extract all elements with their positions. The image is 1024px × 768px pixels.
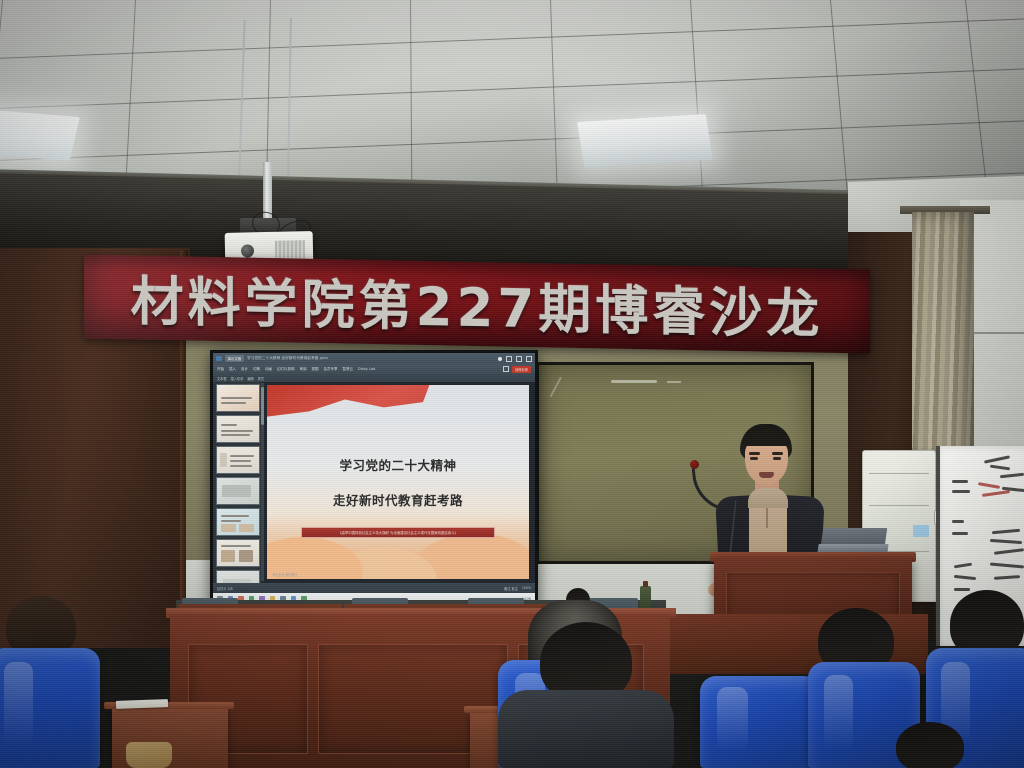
ribbon-tab-8[interactable]: 会员专享 [324, 367, 338, 372]
microphone-head-icon [690, 460, 699, 469]
ppt-tab-label[interactable]: 演示文稿 [225, 355, 245, 362]
quickbar-item-2[interactable]: 编辑 [247, 376, 253, 381]
ppt-document-title: 学习党的二十大精神 走好新时代教育赶考路.pptx [247, 356, 328, 361]
projector-vent [275, 240, 305, 259]
ribbon-tab-1[interactable]: 插入 [229, 367, 236, 372]
projector-lens-icon [241, 244, 254, 257]
slide-thumbnail[interactable] [216, 477, 260, 505]
slide-thumbnail[interactable] [216, 539, 260, 567]
backpack [126, 742, 172, 768]
slide-red-decoration [267, 385, 429, 451]
zoom-level[interactable]: 100% [522, 586, 531, 590]
slide-thumbnail[interactable] [216, 415, 260, 443]
lecture-hall-photo: 材料学院第227期博睿沙龙 演示文稿 学习党的二十大精神 走好新时代教育赶考路.… [0, 0, 1024, 768]
slide-thumbnail[interactable] [216, 446, 260, 474]
ribbon-tab-3[interactable]: 切换 [253, 367, 260, 372]
slide-thumbnail[interactable] [216, 508, 260, 536]
ppt-quick-toolbar[interactable]: 文本框 插入形状 编辑 样式 [213, 374, 535, 382]
slide-subtitle-banner: 《高举中国特色社会主义伟大旗帜 为全面建设社会主义现代化国家而团结奋斗》 [301, 527, 495, 538]
ribbon-tab-5[interactable]: 幻灯片放映 [277, 367, 295, 372]
close-icon[interactable] [526, 356, 532, 362]
ppt-status-bar: 幻灯片 2/8 备注 批注 100% [213, 583, 535, 593]
ppt-titlebar: 演示文稿 学习党的二十大精神 走好新时代教育赶考路.pptx [213, 353, 535, 364]
quickbar-item-1[interactable]: 插入形状 [231, 376, 244, 381]
active-slide: 学习党的二十大精神 走好新时代教育赶考路 《高举中国特色社会主义伟大旗帜 为全面… [267, 385, 529, 579]
event-banner: 材料学院第227期博睿沙龙 [84, 254, 870, 353]
slide-panel-scrollbar[interactable] [261, 383, 264, 581]
slide-cloud-decoration [267, 513, 529, 579]
audience-head [896, 722, 964, 768]
search-icon[interactable] [503, 366, 509, 372]
ribbon-tab-6[interactable]: 审阅 [300, 367, 307, 372]
audience-seat [0, 648, 100, 768]
banner-text: 材料学院第227期博睿沙龙 [84, 258, 870, 349]
ribbon-tab-7[interactable]: 视图 [312, 367, 319, 372]
account-avatar-icon[interactable] [498, 357, 502, 361]
maximize-icon[interactable] [516, 356, 522, 362]
slide-notes-placeholder[interactable]: 单击此处添加备注 [272, 572, 298, 577]
quickbar-item-0[interactable]: 文本框 [217, 376, 227, 381]
ribbon-tab-2[interactable]: 设计 [241, 367, 248, 372]
presenter-collar [748, 488, 788, 508]
window-controls[interactable] [498, 356, 532, 362]
ribbon-tab-0[interactable]: 开始 [217, 367, 224, 372]
ribbon-tab-4[interactable]: 动画 [265, 367, 272, 372]
minimize-icon[interactable] [506, 356, 512, 362]
status-notes-comments[interactable]: 备注 批注 [504, 586, 518, 591]
slide-title-line1: 学习党的二十大精神 [267, 455, 529, 474]
audience-seat [700, 676, 820, 768]
app-logo-icon [216, 356, 222, 362]
ac-display-panel [913, 525, 929, 537]
slide-thumbnail-panel[interactable] [213, 382, 261, 583]
slide-counter: 幻灯片 2/8 [217, 586, 233, 591]
slide-thumbnail[interactable] [216, 384, 260, 412]
ribbon-tab-11[interactable]: Dinky Lab [358, 367, 375, 371]
slide-title-line2: 走好新时代教育赶考路 [267, 490, 529, 509]
projection-screen: 演示文稿 学习党的二十大精神 走好新时代教育赶考路.pptx 开始 插入 设计 … [210, 350, 538, 608]
ppt-ribbon-tabs[interactable]: 开始 插入 设计 切换 动画 幻灯片放映 审阅 视图 会员专享 智慧云 Dink… [213, 364, 535, 374]
ribbon-tab-10[interactable]: 智慧云 [343, 367, 354, 372]
slide-thumbnail[interactable] [216, 570, 260, 583]
quickbar-item-3[interactable]: 样式 [258, 376, 264, 381]
audience-hoodie [498, 690, 674, 768]
share-button[interactable]: 协作分享 [512, 366, 531, 373]
